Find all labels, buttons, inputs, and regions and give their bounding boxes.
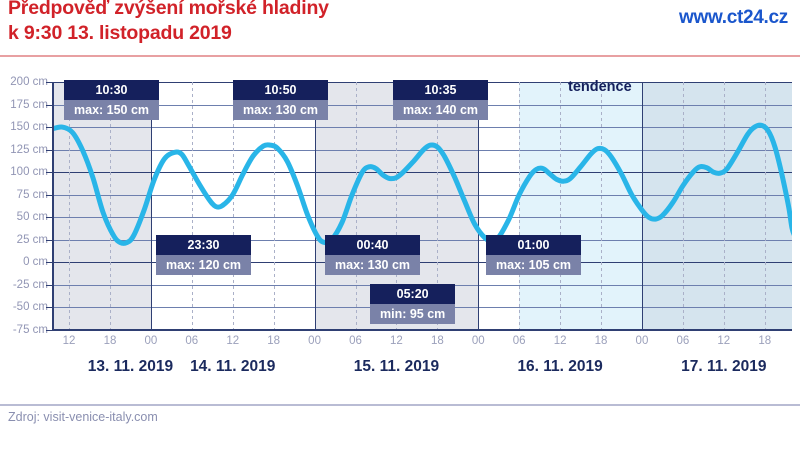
annotation-callout: 10:35max: 140 cm [393,80,488,120]
footer-divider [0,404,800,406]
x-axis-tick-label: 06 [513,335,526,347]
y-axis-tick-mark [46,105,52,106]
y-axis-tick-label: 175 cm [0,99,48,111]
y-axis-tick-label: 25 cm [0,234,48,246]
website-link[interactable]: www.ct24.cz [679,7,788,29]
callout-value: max: 150 cm [64,100,159,120]
x-axis-tick-label: 12 [554,335,567,347]
y-axis-tick-label: 150 cm [0,121,48,133]
y-axis-tick-mark [46,262,52,263]
x-axis-tick-label: 06 [185,335,198,347]
callout-time: 00:40 [325,235,420,255]
x-axis-tick-label: 12 [63,335,76,347]
y-axis-tick-label: -50 cm [0,301,48,313]
x-axis-tick-label: 00 [472,335,485,347]
x-axis-tick-label: 18 [104,335,117,347]
callout-value: max: 140 cm [393,100,488,120]
annotation-callout: 23:30max: 120 cm [156,235,251,275]
x-axis-tick-label: 12 [226,335,239,347]
callout-value: max: 130 cm [233,100,328,120]
tendence-label: tendence [568,79,632,95]
y-axis-tick-label: -75 cm [0,324,48,336]
y-axis-tick-mark [46,82,52,83]
day-label: 14. 11. 2019 [190,358,275,376]
chart: 200 cm175 cm150 cm125 cm100 cm75 cm50 cm… [0,62,800,402]
day-label: 13. 11. 2019 [88,358,173,376]
y-axis-tick-mark [46,127,52,128]
y-axis-tick-label: 50 cm [0,211,48,223]
callout-value: max: 130 cm [325,255,420,275]
y-axis-tick-mark [46,217,52,218]
y-axis-tick-label: 125 cm [0,144,48,156]
header: Předpověď zvýšení mořské hladiny k 9:30 … [0,0,800,56]
x-axis-tick-label: 18 [431,335,444,347]
page-title: Předpověď zvýšení mořské hladiny k 9:30 … [8,0,329,46]
x-axis-tick-label: 18 [758,335,771,347]
x-axis-tick-label: 06 [349,335,362,347]
annotation-callout: 05:20min: 95 cm [370,284,455,324]
callout-time: 10:50 [233,80,328,100]
callout-time: 05:20 [370,284,455,304]
callout-time: 10:30 [64,80,159,100]
y-axis-tick-label: -25 cm [0,279,48,291]
day-label: 17. 11. 2019 [681,358,766,376]
y-axis-tick-label: 200 cm [0,76,48,88]
y-axis-tick-mark [46,172,52,173]
y-axis-tick-mark [46,240,52,241]
y-axis-tick-mark [46,307,52,308]
infographic-root: Předpověď zvýšení mořské hladiny k 9:30 … [0,0,800,449]
callout-time: 10:35 [393,80,488,100]
x-axis-tick-label: 12 [717,335,730,347]
x-axis-tick-label: 18 [595,335,608,347]
annotation-callout: 00:40max: 130 cm [325,235,420,275]
callout-value: max: 105 cm [486,255,581,275]
header-divider [0,55,800,57]
x-axis-tick-label: 00 [308,335,321,347]
y-axis-tick-mark [46,330,52,331]
x-axis-tick-label: 06 [676,335,689,347]
x-axis-line [52,329,792,331]
annotation-callout: 10:30max: 150 cm [64,80,159,120]
x-axis-tick-label: 18 [267,335,280,347]
y-axis-tick-label: 100 cm [0,166,48,178]
annotation-callout: 01:00max: 105 cm [486,235,581,275]
callout-time: 01:00 [486,235,581,255]
y-axis-tick-mark [46,285,52,286]
y-axis-tick-label: 0 cm [0,256,48,268]
callout-value: max: 120 cm [156,255,251,275]
x-axis-tick-label: 00 [636,335,649,347]
day-label: 15. 11. 2019 [354,358,439,376]
y-axis-line [52,82,54,331]
x-axis-tick-label: 12 [390,335,403,347]
y-axis-tick-label: 75 cm [0,189,48,201]
callout-value: min: 95 cm [370,304,455,324]
y-axis-tick-mark [46,195,52,196]
y-axis-tick-mark [46,150,52,151]
source-note: Zdroj: visit-venice-italy.com [8,410,158,424]
annotation-callout: 10:50max: 130 cm [233,80,328,120]
day-label: 16. 11. 2019 [517,358,602,376]
x-axis-tick-label: 00 [144,335,157,347]
callout-time: 23:30 [156,235,251,255]
